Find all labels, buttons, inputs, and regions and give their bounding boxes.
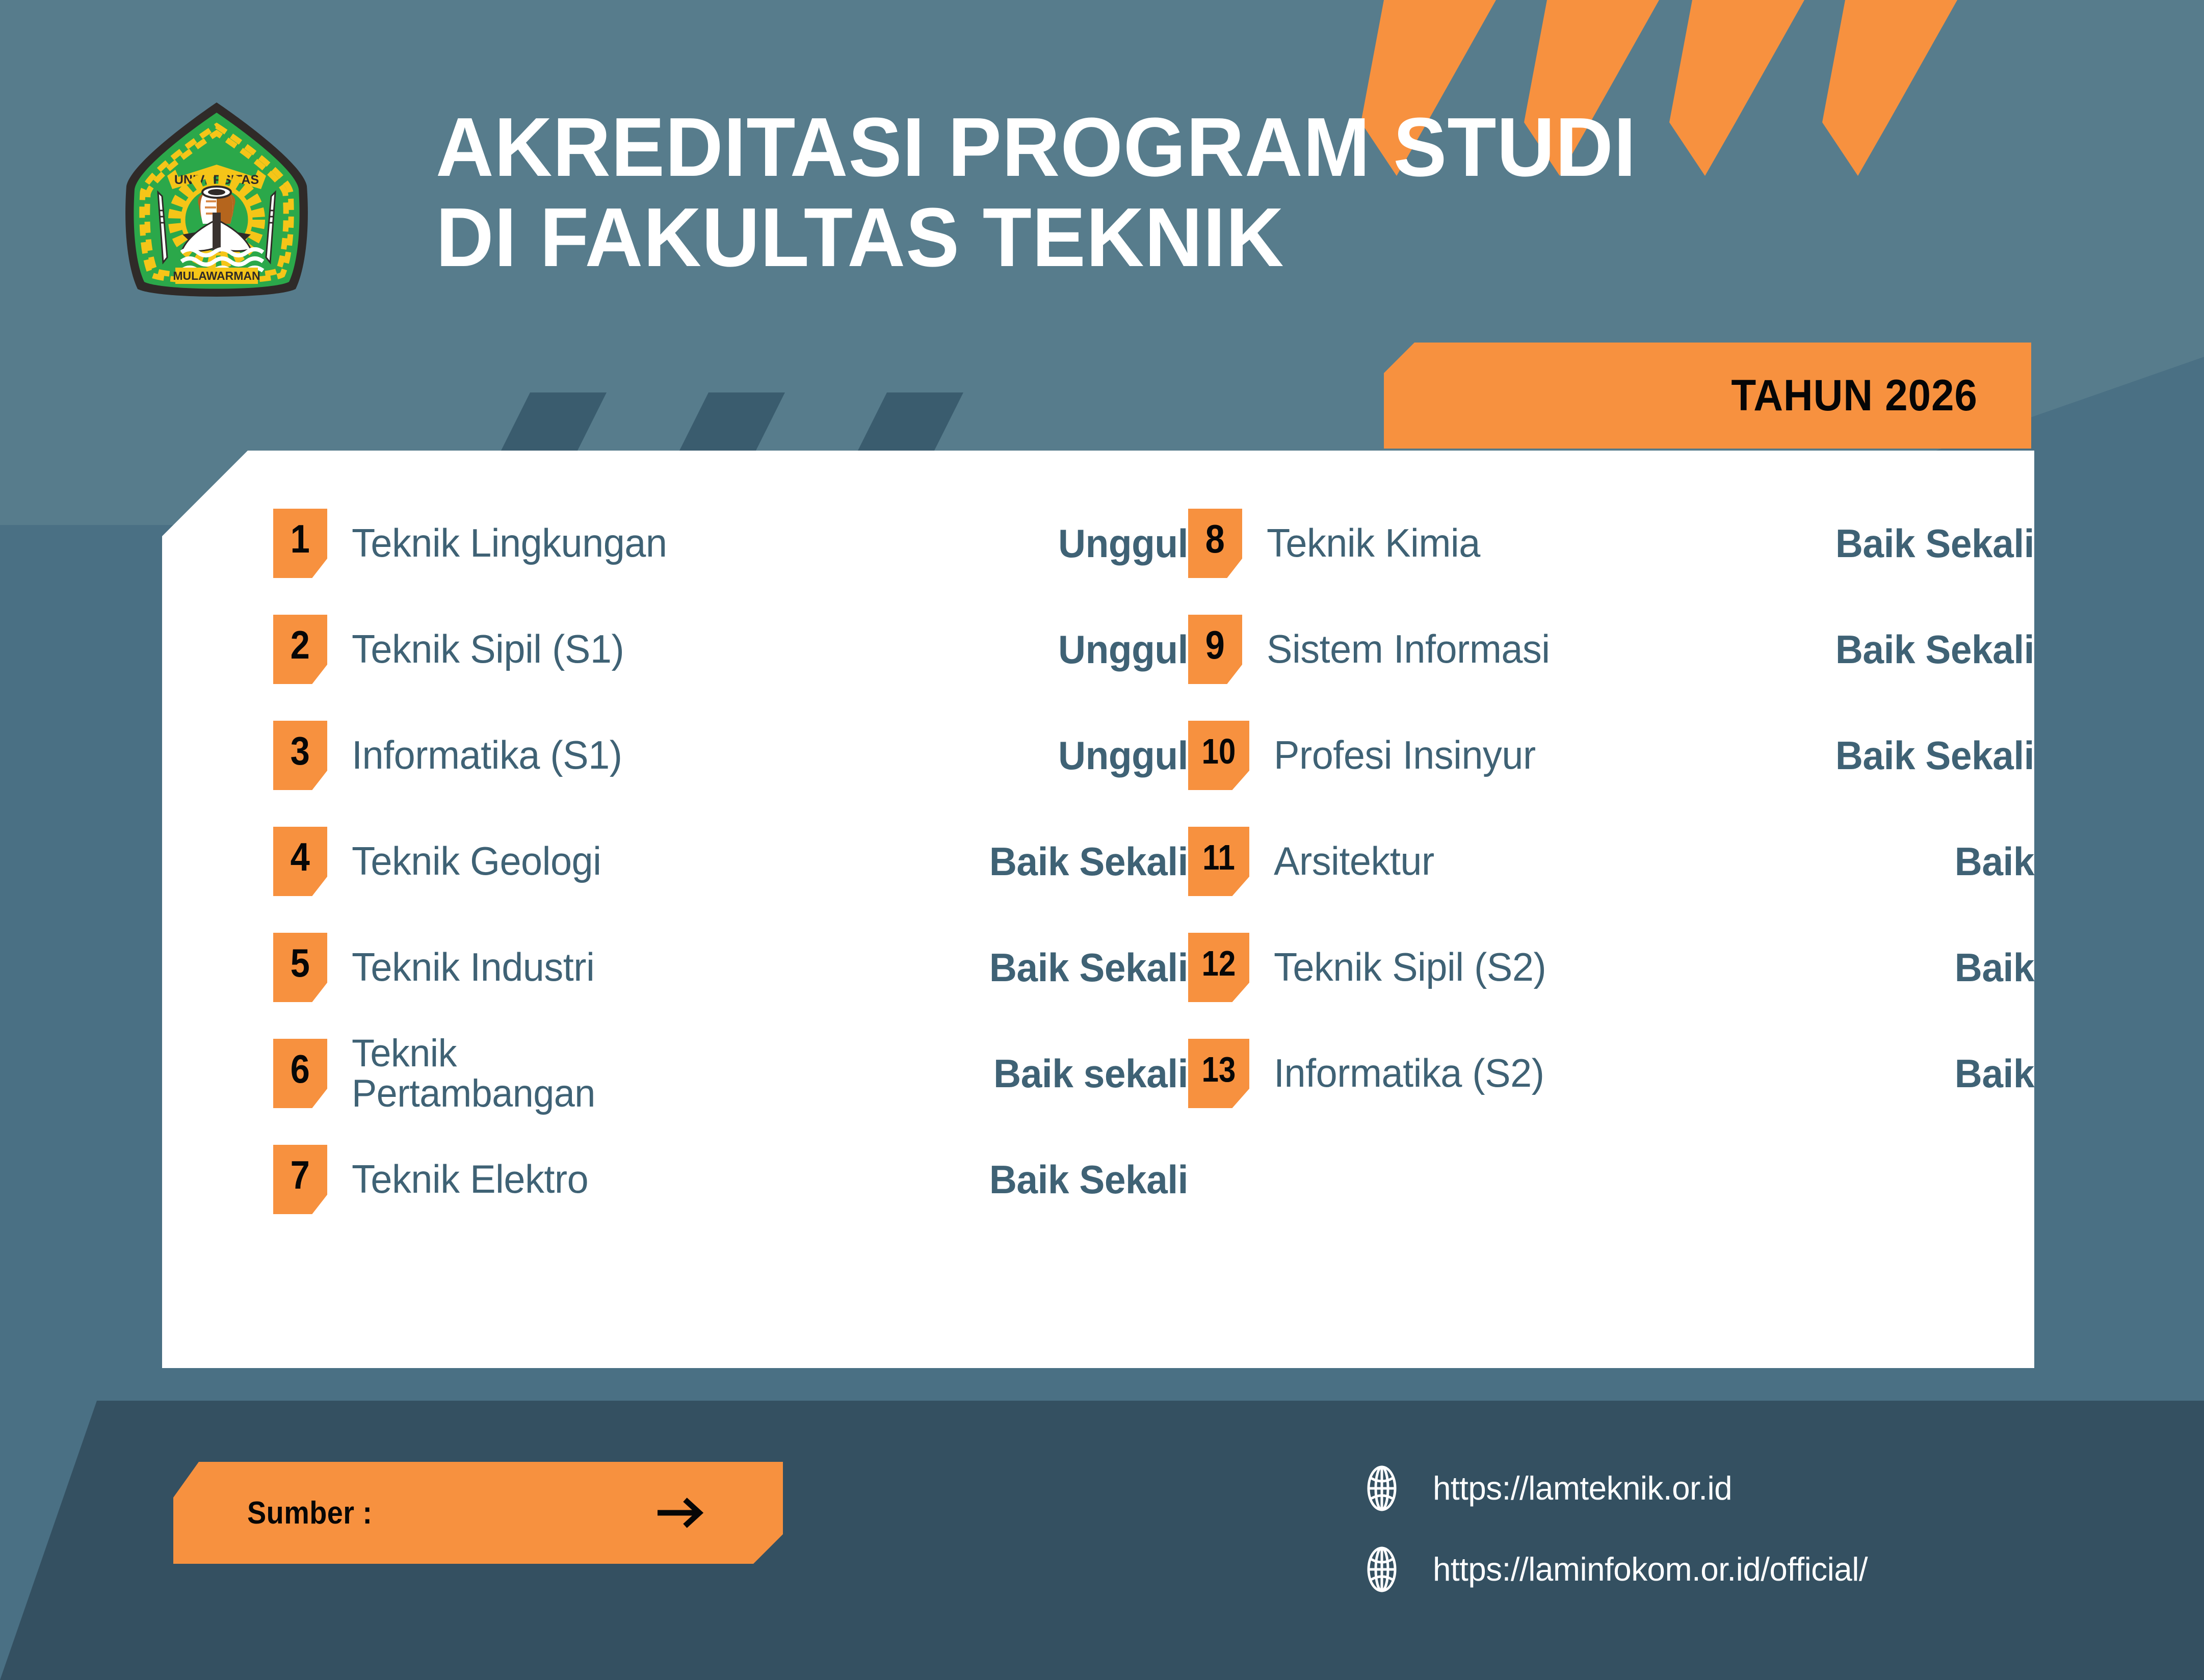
program-row: 1Teknik LingkunganUnggul [273, 490, 1188, 596]
program-number: 5 [291, 943, 310, 983]
program-name: Teknik Lingkungan [352, 523, 886, 564]
mulawarman-shield-icon: UNIVERSITAS [122, 99, 311, 303]
program-number: 9 [1205, 625, 1225, 665]
accreditation-status: Unggul [914, 520, 1188, 567]
program-row: 2Teknik Sipil (S1)Unggul [273, 596, 1188, 702]
program-number: 2 [291, 625, 310, 665]
program-name: Teknik Industri [352, 947, 886, 988]
title-line-2: DI FAKULTAS TEKNIK [436, 192, 2002, 282]
page-title: AKREDITASI PROGRAM STUDI DI FAKULTAS TEK… [436, 102, 2067, 282]
accreditation-status: Unggul [914, 626, 1188, 673]
program-name: Teknik Kimia [1267, 523, 1735, 564]
center-post [213, 213, 221, 252]
program-number: 7 [291, 1155, 310, 1195]
program-name: Profesi Insinyur [1274, 735, 1735, 776]
program-row: 11ArsitekturBaik [1188, 808, 2034, 914]
globe-icon [1358, 1465, 1405, 1512]
program-name: Informatika (S1) [352, 735, 886, 776]
program-number: 10 [1202, 733, 1236, 769]
program-number-badge: 5 [273, 933, 327, 1002]
program-number: 1 [291, 519, 310, 559]
accreditation-status: Baik sekali [914, 1051, 1188, 1097]
arrow-right-icon [658, 1498, 706, 1528]
source-banner[interactable]: Sumber : [173, 1462, 783, 1564]
source-links: https://lamteknik.or.idhttps://laminfoko… [1358, 1454, 2123, 1616]
urn-mouth [208, 189, 225, 195]
program-number: 13 [1202, 1052, 1236, 1087]
program-row: 6TeknikPertambanganBaik sekali [273, 1020, 1188, 1126]
program-number: 8 [1205, 519, 1225, 559]
source-link-row[interactable]: https://lamteknik.or.id [1358, 1454, 2123, 1522]
year-badge-label: TAHUN 2026 [1731, 371, 1978, 421]
program-row: 4Teknik GeologiBaik Sekali [273, 808, 1188, 914]
program-name: Sistem Informasi [1267, 629, 1735, 670]
program-name: Arsitektur [1274, 841, 1735, 882]
program-number-badge: 6 [273, 1039, 327, 1108]
source-link-url[interactable]: https://laminfokom.or.id/official/ [1433, 1550, 1868, 1588]
accreditation-status: Baik Sekali [914, 944, 1188, 991]
accreditation-status: Unggul [914, 732, 1188, 779]
program-row: 10Profesi InsinyurBaik Sekali [1188, 702, 2034, 808]
program-name: TeknikPertambangan [352, 1033, 886, 1114]
program-number: 12 [1202, 946, 1236, 981]
program-name: Teknik Geologi [352, 841, 886, 882]
accreditation-status: Baik [1760, 944, 2034, 991]
program-name: Teknik Sipil (S2) [1274, 947, 1735, 988]
program-number-badge: 10 [1188, 721, 1249, 790]
accreditation-status: Baik [1760, 1051, 2034, 1097]
university-logo: UNIVERSITAS [122, 99, 311, 303]
accreditation-status: Baik [1760, 838, 2034, 885]
program-row: 5Teknik IndustriBaik Sekali [273, 914, 1188, 1020]
program-number: 11 [1202, 839, 1235, 875]
logo-mulawarman-text: MULAWARMAN [173, 269, 260, 282]
program-row: 13Informatika (S2)Baik [1188, 1020, 2034, 1126]
program-number-badge: 1 [273, 509, 327, 578]
program-name: Teknik Elektro [352, 1159, 886, 1200]
program-number: 6 [291, 1049, 310, 1089]
accreditation-status: Baik Sekali [914, 1157, 1188, 1203]
accreditation-status: Baik Sekali [1760, 626, 2034, 673]
program-name: Teknik Sipil (S1) [352, 629, 886, 670]
page-header: UNIVERSITAS [0, 0, 2204, 357]
accreditation-status: Baik Sekali [1760, 732, 2034, 779]
program-column-right: 8Teknik KimiaBaik Sekali9Sistem Informas… [1188, 451, 2034, 1368]
program-number-badge: 13 [1188, 1039, 1249, 1108]
program-row: 8Teknik KimiaBaik Sekali [1188, 490, 2034, 596]
program-row: 3Informatika (S1)Unggul [273, 702, 1188, 808]
program-number: 4 [291, 837, 310, 877]
program-number-badge: 11 [1188, 827, 1249, 896]
program-row: 12Teknik Sipil (S2)Baik [1188, 914, 2034, 1020]
program-column-left: 1Teknik LingkunganUnggul2Teknik Sipil (S… [273, 451, 1188, 1368]
program-number-badge: 4 [273, 827, 327, 896]
title-line-1: AKREDITASI PROGRAM STUDI [436, 102, 2002, 192]
program-row: 7Teknik ElektroBaik Sekali [273, 1126, 1188, 1232]
program-number: 3 [291, 731, 310, 771]
program-number-badge: 9 [1188, 615, 1242, 684]
program-number-badge: 3 [273, 721, 327, 790]
source-link-url[interactable]: https://lamteknik.or.id [1433, 1469, 1732, 1507]
program-number-badge: 12 [1188, 933, 1249, 1002]
program-list-card: 1Teknik LingkunganUnggul2Teknik Sipil (S… [162, 451, 2034, 1368]
year-badge: TAHUN 2026 [1384, 343, 2031, 449]
accreditation-status: Baik Sekali [1760, 520, 2034, 567]
source-link-row[interactable]: https://laminfokom.or.id/official/ [1358, 1535, 2123, 1604]
source-label: Sumber : [247, 1495, 372, 1531]
program-number-badge: 2 [273, 615, 327, 684]
program-columns: 1Teknik LingkunganUnggul2Teknik Sipil (S… [162, 451, 2034, 1368]
program-number-badge: 8 [1188, 509, 1242, 578]
program-number-badge: 7 [273, 1145, 327, 1214]
program-name: Informatika (S2) [1274, 1053, 1735, 1094]
globe-icon [1358, 1546, 1405, 1593]
accreditation-status: Baik Sekali [914, 838, 1188, 885]
program-row: 9Sistem InformasiBaik Sekali [1188, 596, 2034, 702]
